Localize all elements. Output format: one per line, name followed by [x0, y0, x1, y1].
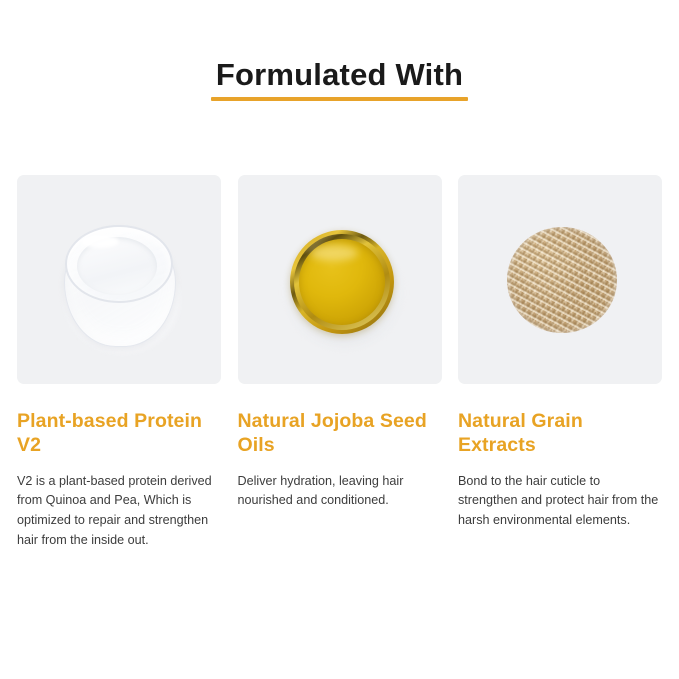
oil-gloss-highlight	[310, 245, 358, 261]
ingredient-card-natural-grain-extracts: Natural Grain Extracts Bond to the hair …	[458, 175, 662, 531]
ingredient-description: Deliver hydration, leaving hair nourishe…	[238, 472, 442, 512]
ingredient-card-list: Plant-based Protein V2 V2 is a plant-bas…	[17, 175, 662, 551]
ingredient-description: V2 is a plant-based protein derived from…	[17, 472, 221, 552]
grain-seeds-pile-image	[458, 175, 662, 384]
heading-inner: Formulated With	[216, 58, 463, 101]
ingredient-description: Bond to the hair cuticle to strengthen a…	[458, 472, 662, 532]
heading-underline-accent	[211, 97, 468, 101]
jar-gloss-highlight	[81, 235, 119, 248]
section-heading: Formulated With	[0, 58, 679, 101]
ingredient-title: Plant-based Protein V2	[17, 410, 221, 458]
ingredient-card-natural-jojoba-seed-oils: Natural Jojoba Seed Oils Deliver hydrati…	[238, 175, 442, 511]
page-title: Formulated With	[216, 58, 463, 92]
ingredient-title: Natural Jojoba Seed Oils	[238, 410, 442, 458]
jojoba-oil-bowl-image	[238, 175, 442, 384]
clear-glass-jar-image	[17, 175, 221, 384]
ingredient-card-plant-based-protein-v2: Plant-based Protein V2 V2 is a plant-bas…	[17, 175, 221, 551]
ingredient-title: Natural Grain Extracts	[458, 410, 662, 458]
grain-pile-edge-fade	[505, 225, 619, 335]
formulated-with-section: Formulated With Plant-based Protein V2 V…	[0, 0, 679, 679]
